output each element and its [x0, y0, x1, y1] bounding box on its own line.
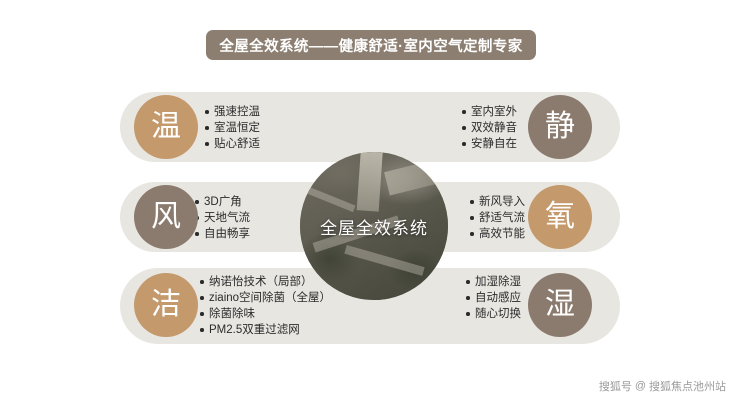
feature-list-yang: 新风导入 舒适气流 高效节能 [470, 194, 525, 242]
list-item: 除菌除味 [200, 306, 331, 322]
badge-char-yang: 氧 [545, 202, 575, 232]
badge-feng: 风 [134, 185, 198, 249]
list-item: 高效节能 [470, 226, 525, 242]
list-item: 自动感应 [466, 290, 521, 306]
page-title: 全屋全效系统——健康舒适·室内空气定制专家 [219, 35, 522, 56]
feature-list-jing: 室内室外 双效静音 安静自在 [462, 104, 517, 152]
list-item: 强速控温 [205, 104, 260, 120]
at-icon: @ [635, 380, 646, 392]
list-item: 室内室外 [462, 104, 517, 120]
feature-list-wen: 强速控温 室温恒定 贴心舒适 [205, 104, 260, 152]
badge-shi: 湿 [528, 273, 592, 337]
list-item: 舒适气流 [470, 210, 525, 226]
list-item: 贴心舒适 [205, 136, 260, 152]
feature-list-feng: 3D广角 天地气流 自由畅享 [195, 194, 250, 242]
badge-yang: 氧 [528, 185, 592, 249]
infographic-page: 全屋全效系统——健康舒适·室内空气定制专家 温 风 洁 静 氧 湿 强速控温 室… [0, 0, 740, 404]
list-item: 室温恒定 [205, 120, 260, 136]
center-label: 全屋全效系统 [300, 152, 448, 300]
watermark-suffix: 搜狐焦点池州站 [649, 378, 726, 394]
center-photo-circle: 全屋全效系统 [300, 152, 448, 300]
list-item: 3D广角 [195, 194, 250, 210]
title-banner: 全屋全效系统——健康舒适·室内空气定制专家 [206, 30, 536, 60]
list-item: 新风导入 [470, 194, 525, 210]
list-item: PM2.5双重过滤网 [200, 322, 331, 338]
list-item: 天地气流 [195, 210, 250, 226]
badge-wen: 温 [134, 95, 198, 159]
list-item: 双效静音 [462, 120, 517, 136]
badge-char-feng: 风 [151, 202, 181, 232]
watermark-prefix: 搜狐号 [599, 378, 632, 394]
list-item: 自由畅享 [195, 226, 250, 242]
watermark: 搜狐号 @ 搜狐焦点池州站 [599, 378, 726, 394]
list-item: 安静自在 [462, 136, 517, 152]
feature-list-shi: 加湿除湿 自动感应 随心切换 [466, 274, 521, 322]
badge-jing: 静 [528, 95, 592, 159]
list-item: 随心切换 [466, 306, 521, 322]
badge-char-jing: 静 [545, 112, 575, 142]
badge-char-jie: 洁 [151, 290, 181, 320]
badge-char-wen: 温 [151, 112, 181, 142]
badge-char-shi: 湿 [545, 290, 575, 320]
list-item: 加湿除湿 [466, 274, 521, 290]
badge-jie: 洁 [134, 273, 198, 337]
